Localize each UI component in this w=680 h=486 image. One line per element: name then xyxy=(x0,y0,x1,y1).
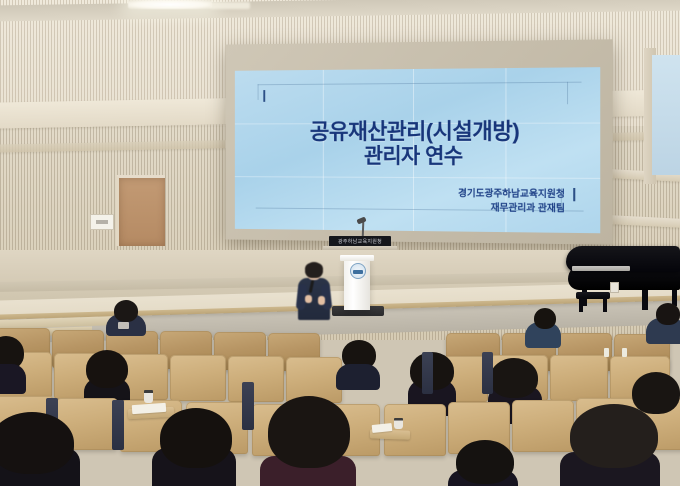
audience-member-head xyxy=(268,396,350,468)
podium-emblem-icon xyxy=(350,263,366,279)
ceiling-light-secondary xyxy=(210,2,250,9)
audience-member-head xyxy=(0,412,74,474)
grand-piano xyxy=(566,240,680,308)
slide-title-line1: 공유재산관리(시설개방) xyxy=(235,118,600,145)
audience-member-head xyxy=(114,300,138,322)
slide-tick-right xyxy=(573,188,575,201)
slide-rule-top-right xyxy=(567,82,568,104)
podium-top xyxy=(340,255,374,261)
audience-member-head xyxy=(656,303,680,325)
slide-tick-left xyxy=(263,90,265,102)
seat[interactable] xyxy=(170,355,226,401)
water-bottle[interactable] xyxy=(604,348,609,357)
slide-attribution-line1: 경기도광주하남교육지원청 xyxy=(458,187,565,202)
slide-attribution-line2: 재무관리과 관재팀 xyxy=(458,201,565,216)
audience-member xyxy=(0,364,26,394)
seat[interactable] xyxy=(512,400,574,452)
audience-member xyxy=(336,364,380,390)
auditorium-photo: 광주하남교육지원청 공유재산관리(시설개방) 관리자 연수 경기도광주하남교육지… xyxy=(0,0,680,486)
slide-title: 공유재산관리(시설개방) 관리자 연수 xyxy=(235,118,600,170)
audience-member-head xyxy=(490,358,538,398)
slide-title-line2: 관리자 연수 xyxy=(235,145,600,171)
seat-armrest-panel xyxy=(482,352,493,394)
audience-member-head xyxy=(534,308,556,329)
wall-outlet xyxy=(610,282,619,293)
seat-armrest-panel xyxy=(422,352,433,394)
seat-armrest-panel xyxy=(112,400,124,450)
audience-member-head xyxy=(160,408,232,468)
seat[interactable] xyxy=(228,356,284,402)
projection-screen: 공유재산관리(시설개방) 관리자 연수 경기도광주하남교육지원청 재무관리과 관… xyxy=(235,67,600,233)
audience-member-head xyxy=(86,350,128,388)
ceiling-light xyxy=(128,0,212,9)
face-mask xyxy=(118,322,129,329)
slide-attribution: 경기도광주하남교육지원청 재무관리과 관재팀 xyxy=(458,187,565,216)
slide-rule-top xyxy=(258,82,582,86)
audience-member-head xyxy=(632,372,680,414)
audience-member-head xyxy=(570,404,658,468)
seat[interactable] xyxy=(550,355,608,401)
coffee-cup[interactable] xyxy=(144,390,153,403)
water-bottle[interactable] xyxy=(622,348,627,357)
audience-member-head xyxy=(456,440,514,484)
coffee-cup[interactable] xyxy=(394,418,403,429)
projection-screen-frame: 공유재산관리(시설개방) 관리자 연수 경기도광주하남교육지원청 재무관리과 관… xyxy=(225,39,612,244)
door-placard xyxy=(90,214,114,230)
right-window xyxy=(652,55,680,175)
piano-keys xyxy=(572,266,630,271)
slide-rule-left xyxy=(258,84,259,100)
presenter xyxy=(294,262,334,320)
led-sign-text: 광주하남교육지원청 xyxy=(338,238,382,245)
seat-armrest-panel xyxy=(242,382,254,430)
side-door[interactable] xyxy=(116,175,165,246)
